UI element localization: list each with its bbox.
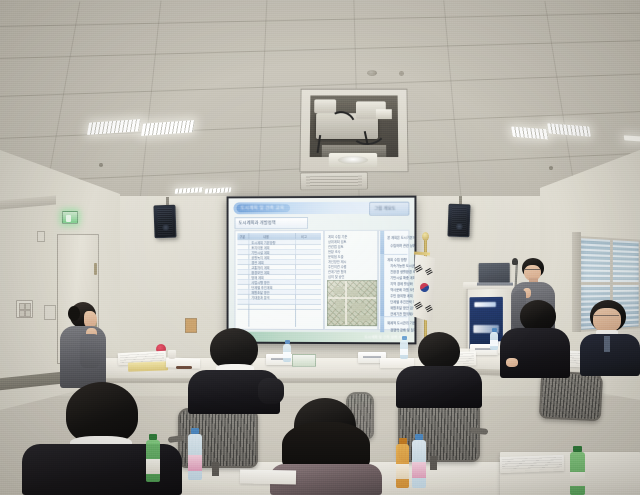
slide-location-map <box>327 280 377 326</box>
attendee-torso <box>580 334 640 376</box>
handout-documents <box>500 455 565 473</box>
water-bottle-orange <box>396 444 409 488</box>
light-switch-panel[interactable] <box>16 300 33 318</box>
attendee-right-near <box>498 300 572 378</box>
attendee-right-far <box>580 300 640 376</box>
flag-trigram <box>425 305 433 313</box>
attendee-arm <box>80 334 100 368</box>
presenter-glasses <box>525 269 540 273</box>
water-bottle-green <box>570 452 585 495</box>
slide-bullet-heading: 계획 수립 방향 <box>387 257 407 262</box>
slide-tab: 그림 개요도 <box>369 202 409 216</box>
water-bottle-clear <box>490 332 498 350</box>
attendee-hair-bun <box>68 306 80 321</box>
flag-trigram <box>414 302 423 310</box>
attendee-center-right <box>396 332 482 408</box>
slide-tab-text: 그림 개요도 <box>374 206 396 212</box>
flag-cloth <box>413 254 435 322</box>
mesh-back-office-chair[interactable] <box>539 370 603 421</box>
flag-trigram <box>425 268 433 276</box>
ceiling-air-conditioner-vent <box>300 172 368 191</box>
slide-table: 구분 내용 비고 도시계획 기본방향 토지이용 계획 기반시설 계획 공원녹지 … <box>234 230 324 330</box>
attendee-head <box>66 382 138 444</box>
projected-slide: 도시계획 및 건축 교육 그림 개요도 도시계획과 개발정책 <box>229 198 415 343</box>
slide-table-cell: 기대효과 분석 <box>251 295 269 300</box>
sprinkler-head <box>99 163 103 167</box>
smoke-detector <box>367 70 377 76</box>
handout-documents <box>240 470 296 485</box>
taeguk-circle <box>418 281 430 293</box>
photo-scene: 도시계획 및 건축 교육 그림 개요도 도시계획과 개발정책 <box>0 0 640 495</box>
slide-table-header-cell: 구분 <box>239 234 245 239</box>
wall-speaker-left <box>153 205 176 239</box>
projection-screen: 도시계획 및 건축 교육 그림 개요도 도시계획과 개발정책 <box>227 196 417 345</box>
attendee-hand <box>506 358 518 367</box>
slide-table-header-cell: 내용 <box>263 234 269 239</box>
tissue-box <box>292 354 316 367</box>
korean-flag <box>408 232 448 344</box>
slide-subtitle: 도시계획과 개발정책 <box>234 217 308 229</box>
chair-post <box>430 456 437 470</box>
water-bottle-pink <box>188 434 202 480</box>
slide-note: 심의 및 승인 <box>328 274 344 279</box>
projector-mount-housing <box>299 89 408 173</box>
wall-panel <box>44 305 56 320</box>
water-bottle-pink <box>412 440 426 488</box>
attendee-glasses <box>594 315 619 319</box>
exit-sign <box>62 211 78 224</box>
sprinkler-head <box>549 166 553 170</box>
water-bottle-green <box>146 440 160 482</box>
slide-bullets-column: 본 계획은 도시기본계획의 내용을 반영하여 수립하며 관련 상위계획과 연계한… <box>378 230 409 331</box>
flag-trigram <box>414 265 423 273</box>
wall-outlet <box>37 231 45 242</box>
paper-cup <box>168 350 176 359</box>
mesh-back-office-chair[interactable] <box>398 400 480 462</box>
attendee-torso <box>396 366 482 408</box>
attendee-tie <box>604 336 610 352</box>
attendee-left-gray <box>58 302 114 388</box>
attendee-torso <box>500 328 570 378</box>
projector-lens <box>329 153 377 167</box>
yellow-folder <box>128 361 168 371</box>
chair-post <box>212 462 219 476</box>
sprinkler-head <box>399 71 404 76</box>
attendee-face <box>593 308 621 332</box>
slide-table-header-cell: 비고 <box>301 234 307 239</box>
wall-speaker-right <box>447 204 470 238</box>
water-bottle-clear <box>283 344 291 362</box>
slide-subtitle-text: 도시계획과 개발정책 <box>238 220 275 226</box>
slide-title-text: 도시계획 및 건축 교육 <box>240 205 284 211</box>
attendee-head <box>418 332 460 370</box>
